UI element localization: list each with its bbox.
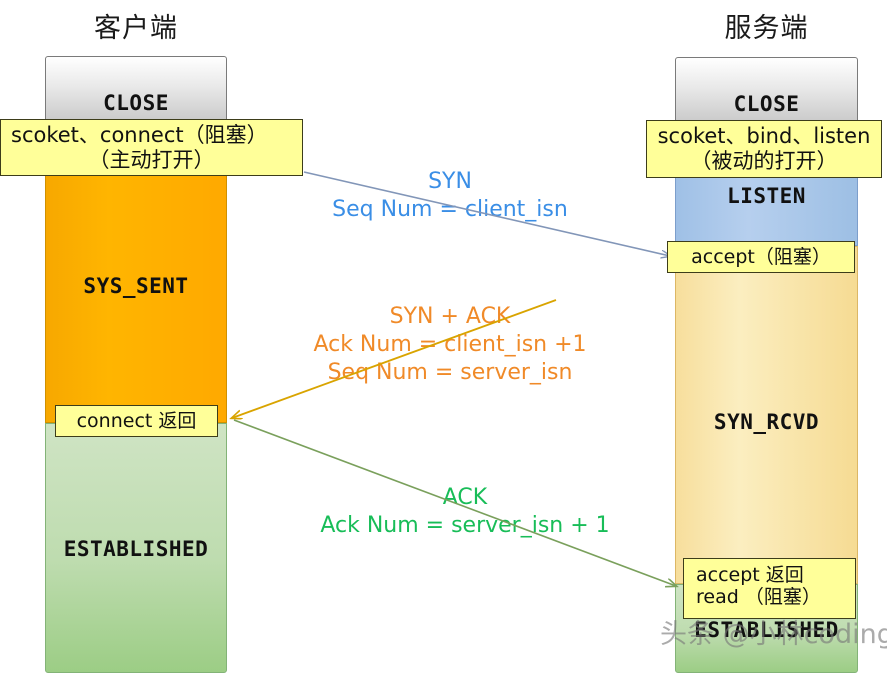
message-syn-ack: SYN + ACK Ack Num = client_isn +1 Seq Nu… [270, 303, 630, 387]
message-syn-ack-acknum: Ack Num = client_isn +1 [270, 331, 630, 359]
message-ack: ACK Ack Num = server_isn + 1 [290, 484, 640, 540]
message-syn-ack-seqnum: Seq Num = server_isn [270, 359, 630, 387]
client-column-title: 客户端 [45, 6, 227, 45]
message-syn-ack-header: SYN + ACK [270, 303, 630, 331]
note-accept-return-line1: accept 返回 [696, 564, 855, 586]
server-state-close-label: CLOSE [676, 92, 857, 116]
server-state-listen-label: LISTEN [676, 184, 857, 208]
client-state-syn-sent-label: SYS_SENT [46, 274, 226, 298]
client-state-established-label: ESTABLISHED [46, 537, 226, 561]
client-state-close-label: CLOSE [46, 91, 226, 115]
server-state-syn-rcvd-label: SYN_RCVD [676, 410, 857, 434]
client-state-established: ESTABLISHED [45, 423, 227, 673]
tcp-handshake-diagram: 客户端 服务端 CLOSE SYS_SENT ESTABLISHED CLOSE… [0, 0, 887, 678]
message-syn-header: SYN [300, 168, 600, 196]
watermark: 头条 @小林coding [660, 612, 887, 651]
note-accept-return-line2: read （阻塞） [696, 586, 855, 608]
note-connect-return: connect 返回 [55, 405, 218, 437]
server-state-syn-rcvd: SYN_RCVD [675, 246, 858, 584]
client-state-close: CLOSE [45, 56, 227, 123]
server-state-close: CLOSE [675, 57, 858, 124]
note-client-socket-connect-line1: scoket、connect（阻塞） [1, 123, 302, 148]
note-server-socket-bind-listen: scoket、bind、listen （被动的打开） [646, 120, 882, 178]
note-client-socket-connect: scoket、connect（阻塞） （主动打开） [0, 119, 303, 176]
note-client-socket-connect-line2: （主动打开） [1, 148, 302, 173]
note-server-socket-bind-listen-line1: scoket、bind、listen [647, 124, 881, 149]
message-syn-seqnum: Seq Num = client_isn [300, 196, 600, 224]
message-ack-acknum: Ack Num = server_isn + 1 [290, 512, 640, 540]
note-server-socket-bind-listen-line2: （被动的打开） [647, 149, 881, 174]
message-syn: SYN Seq Num = client_isn [300, 168, 600, 224]
message-ack-header: ACK [290, 484, 640, 512]
note-accept-blocking: accept（阻塞） [667, 241, 855, 273]
note-accept-return-read: accept 返回 read （阻塞） [683, 558, 856, 619]
server-column-title: 服务端 [675, 6, 858, 45]
